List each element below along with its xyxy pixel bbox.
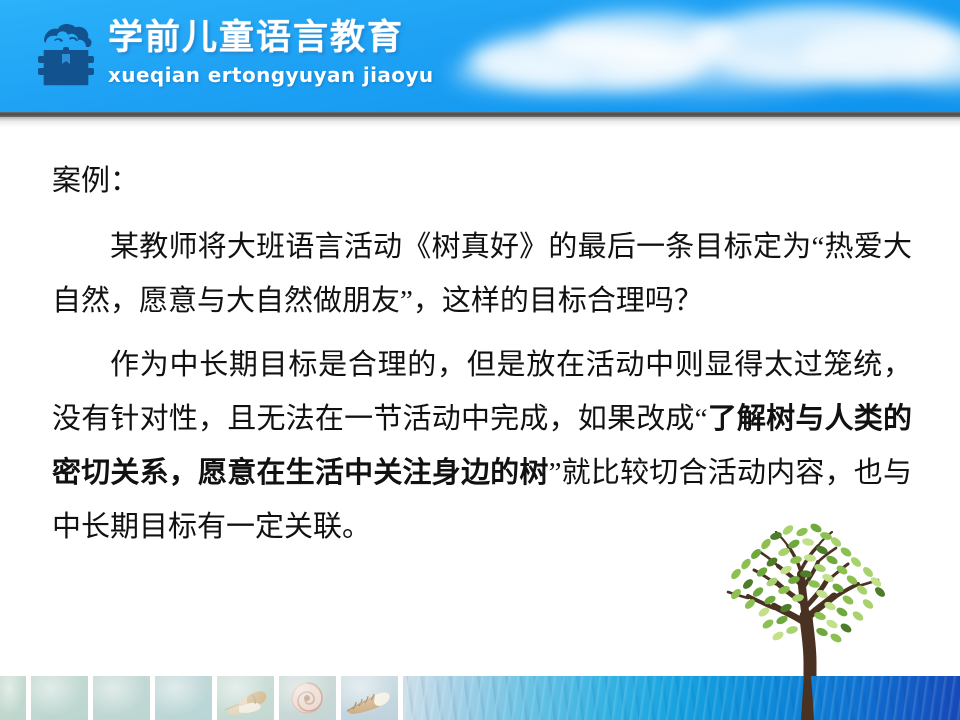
tile-highlight bbox=[279, 676, 336, 720]
cloud-shape-icon bbox=[690, 6, 960, 84]
header-text-block: 学前儿童语言教育 xueqian ertongyuyan jiaoyu bbox=[108, 16, 528, 88]
tile-plain-3 bbox=[93, 676, 150, 720]
tile-plain-1 bbox=[0, 676, 26, 720]
tile-highlight bbox=[31, 676, 88, 720]
tile-highlight bbox=[155, 676, 212, 720]
cloud-shape-icon bbox=[900, 44, 960, 88]
tile-shell-auger bbox=[341, 676, 398, 720]
tile-water bbox=[403, 676, 960, 720]
tile-shell-spiral bbox=[279, 676, 336, 720]
tile-shell-conch bbox=[217, 676, 274, 720]
cloud-shape-icon bbox=[600, 52, 830, 92]
tile-highlight bbox=[217, 676, 274, 720]
tile-highlight bbox=[341, 676, 398, 720]
cloud-shape-icon bbox=[800, 24, 960, 84]
case-paragraph-1: 某教师将大班语言活动《树真好》的最后一条目标定为“热爱大自然，愿意与大自然做朋友… bbox=[52, 220, 912, 328]
slide-content: 案例： 某教师将大班语言活动《树真好》的最后一条目标定为“热爱大自然，愿意与大自… bbox=[52, 154, 912, 554]
green-tree-illustration-icon bbox=[722, 512, 894, 690]
bottom-filmstrip bbox=[0, 676, 960, 720]
page-title: 学前儿童语言教育 bbox=[108, 16, 528, 60]
tile-plain-2 bbox=[31, 676, 88, 720]
header-drop-shadow bbox=[0, 117, 960, 127]
case-label: 案例： bbox=[52, 154, 912, 208]
tile-highlight bbox=[93, 676, 150, 720]
open-book-logo-icon bbox=[24, 14, 108, 98]
cloud-shape-icon bbox=[545, 12, 735, 66]
page-subtitle-pinyin: xueqian ertongyuyan jiaoyu bbox=[108, 62, 528, 88]
header-banner: 学前儿童语言教育 xueqian ertongyuyan jiaoyu bbox=[0, 0, 960, 112]
slide-root: 学前儿童语言教育 xueqian ertongyuyan jiaoyu 案例： … bbox=[0, 0, 960, 720]
tile-plain-4 bbox=[155, 676, 212, 720]
tile-highlight bbox=[0, 676, 26, 720]
water-texture bbox=[403, 676, 960, 720]
